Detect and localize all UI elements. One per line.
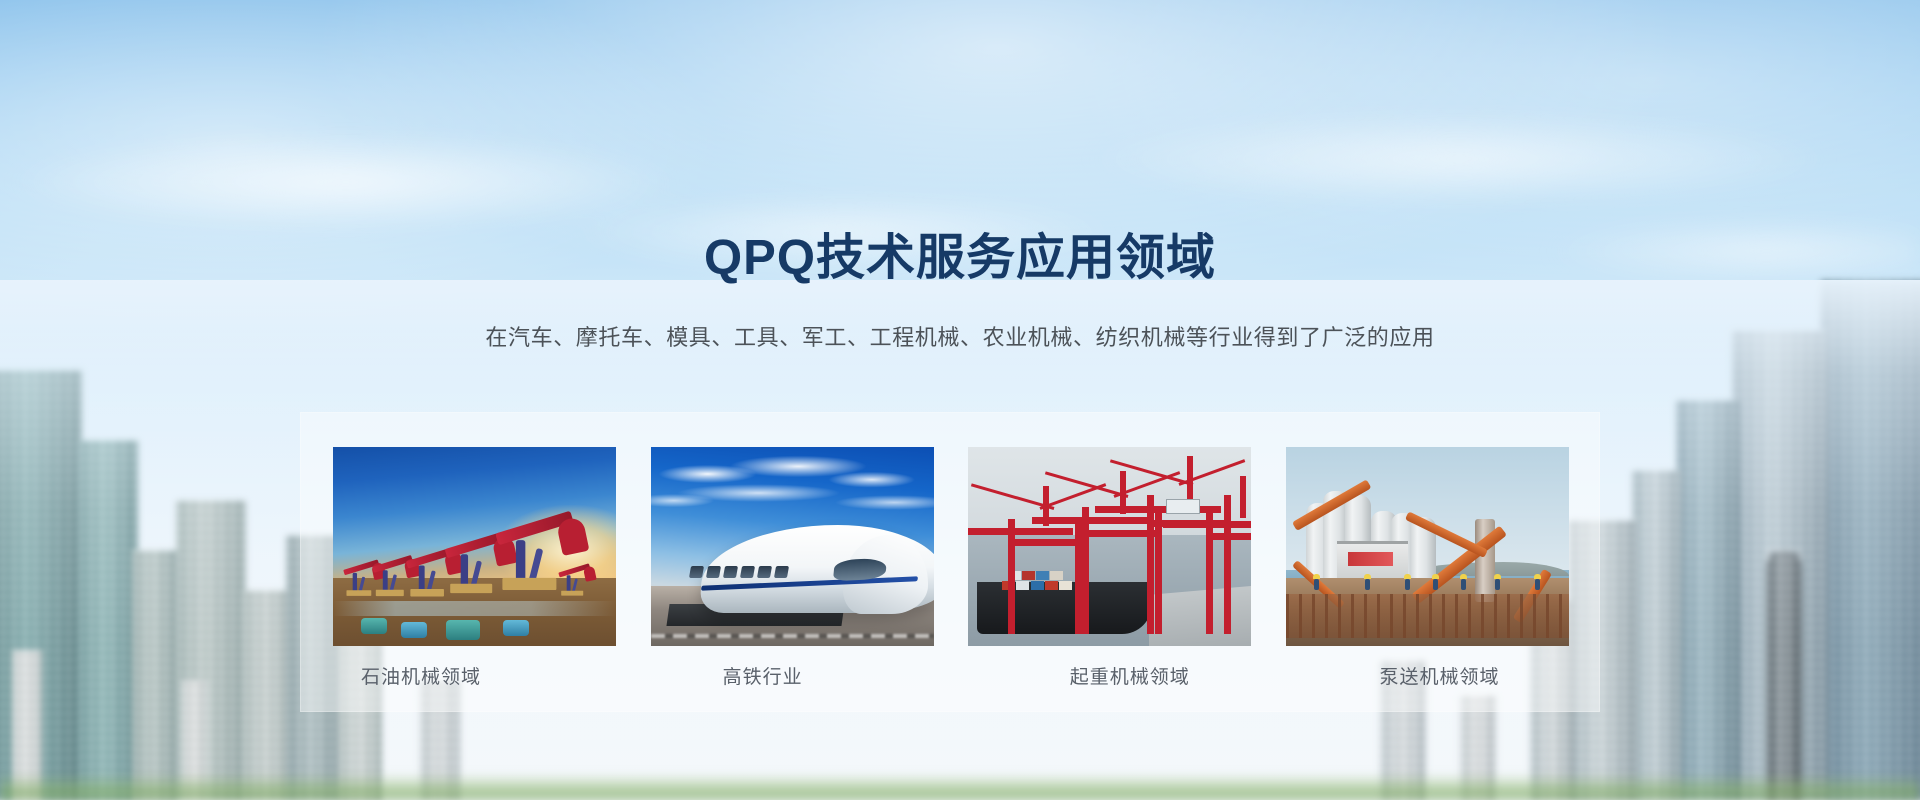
list-item[interactable]: 泵送机械领域	[1286, 447, 1569, 677]
gantry-crane	[1206, 511, 1251, 634]
card-label: 泵送机械领域	[1286, 662, 1569, 689]
page-subtitle: 在汽车、摩托车、模具、工具、军工、工程机械、农业机械、纺织机械等行业得到了广泛的…	[0, 327, 1920, 349]
train-scene-art	[651, 447, 934, 646]
gantry-crane	[1008, 519, 1082, 634]
crane-scene-art	[968, 447, 1251, 646]
list-item[interactable]: 石油机械领域	[333, 447, 616, 677]
oil-scene-art	[333, 447, 616, 646]
card-label: 起重机械领域	[968, 662, 1251, 689]
port-gantry-crane-photo[interactable]	[968, 447, 1251, 646]
high-speed-train-photo[interactable]	[651, 447, 934, 646]
card-label: 高铁行业	[651, 662, 934, 689]
application-cards-list: 石油机械领域	[333, 447, 1569, 677]
card-label: 石油机械领域	[333, 662, 616, 689]
page-title: QPQ技术服务应用领域	[0, 234, 1920, 283]
pump-scene-art	[1286, 447, 1569, 646]
concrete-pump-photo[interactable]	[1286, 447, 1569, 646]
list-item[interactable]: 起重机械领域	[968, 447, 1251, 677]
oil-pumpjacks-photo[interactable]	[333, 447, 616, 646]
list-item[interactable]: 高铁行业	[651, 447, 934, 677]
hero-content: QPQ技术服务应用领域 在汽车、摩托车、模具、工具、军工、工程机械、农业机械、纺…	[0, 0, 1920, 800]
